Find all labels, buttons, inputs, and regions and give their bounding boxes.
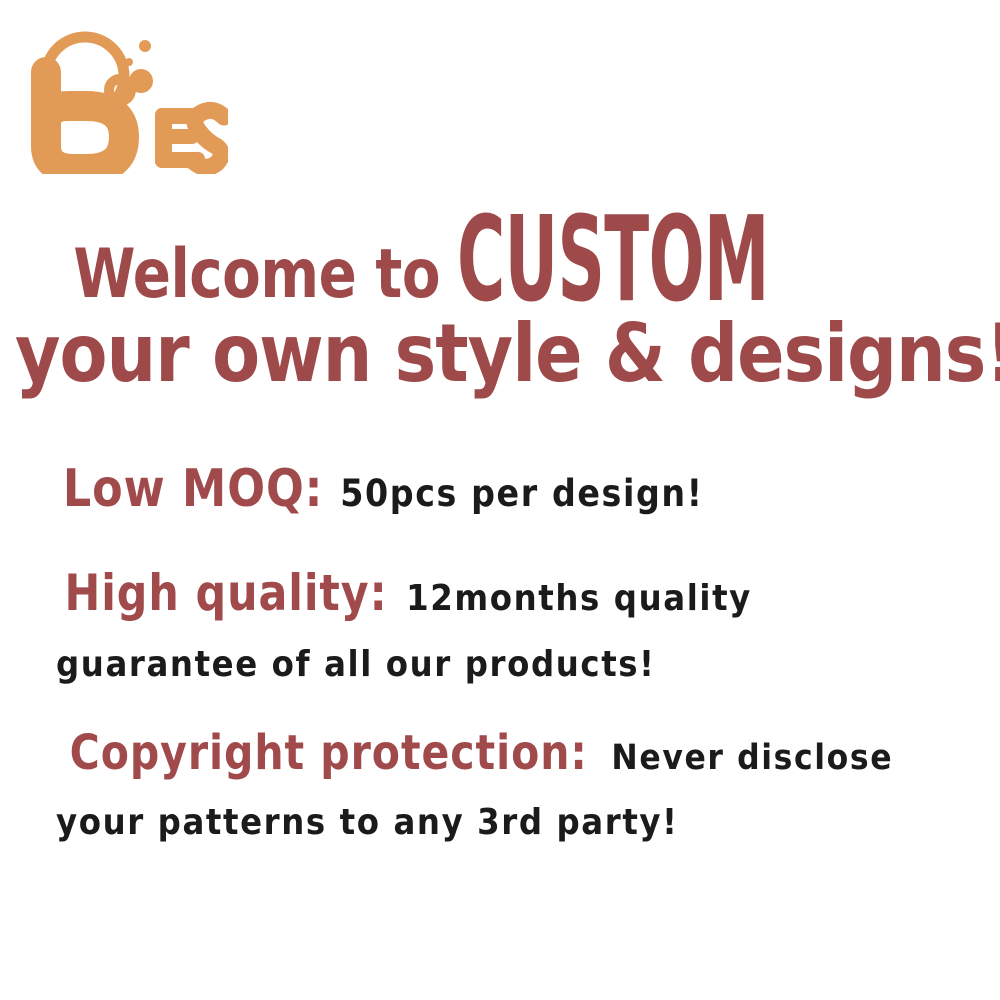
headline-line-1: Welcome to CUSTOM — [0, 208, 1000, 308]
feature-line: Copyright protection:Never disclose — [56, 719, 966, 789]
bubble-b-logo-icon — [28, 24, 228, 174]
feature-value-high-quality: 12months quality — [396, 573, 752, 625]
feature-value-copyright: Never disclose — [601, 733, 893, 784]
headline-line-2: your own style & designs! — [15, 314, 985, 394]
feature-item-copyright: Copyright protection:Never disclose your… — [56, 719, 966, 844]
bubble-medium-icon — [129, 69, 153, 93]
feature-item-low-moq: Low MOQ:50pcs per design! — [56, 452, 966, 527]
feature-list: Low MOQ:50pcs per design! High quality:1… — [56, 452, 966, 869]
feature-continuation-high-quality: guarantee of all our products! — [56, 644, 966, 685]
bubble-tiny-icon — [125, 58, 133, 66]
bubble-small-icon — [139, 40, 151, 52]
promo-banner: Welcome to CUSTOM your own style & desig… — [0, 0, 1000, 1000]
feature-item-high-quality: High quality:12months quality guarantee … — [56, 557, 966, 685]
feature-label-copyright: Copyright protection: — [70, 719, 588, 789]
headline-welcome-text: Welcome to — [74, 243, 457, 308]
headline-custom-text: CUSTOM — [457, 211, 769, 308]
feature-line: High quality:12months quality — [56, 557, 966, 630]
feature-value-low-moq: 50pcs per design! — [330, 467, 703, 521]
feature-label-high-quality: High quality: — [65, 557, 388, 630]
headline: Welcome to CUSTOM your own style & desig… — [0, 208, 1000, 394]
feature-line: Low MOQ:50pcs per design! — [56, 452, 966, 527]
brand-logo — [28, 24, 228, 174]
feature-continuation-copyright: your patterns to any 3rd party! — [56, 802, 966, 843]
feature-label-low-moq: Low MOQ: — [63, 452, 324, 527]
